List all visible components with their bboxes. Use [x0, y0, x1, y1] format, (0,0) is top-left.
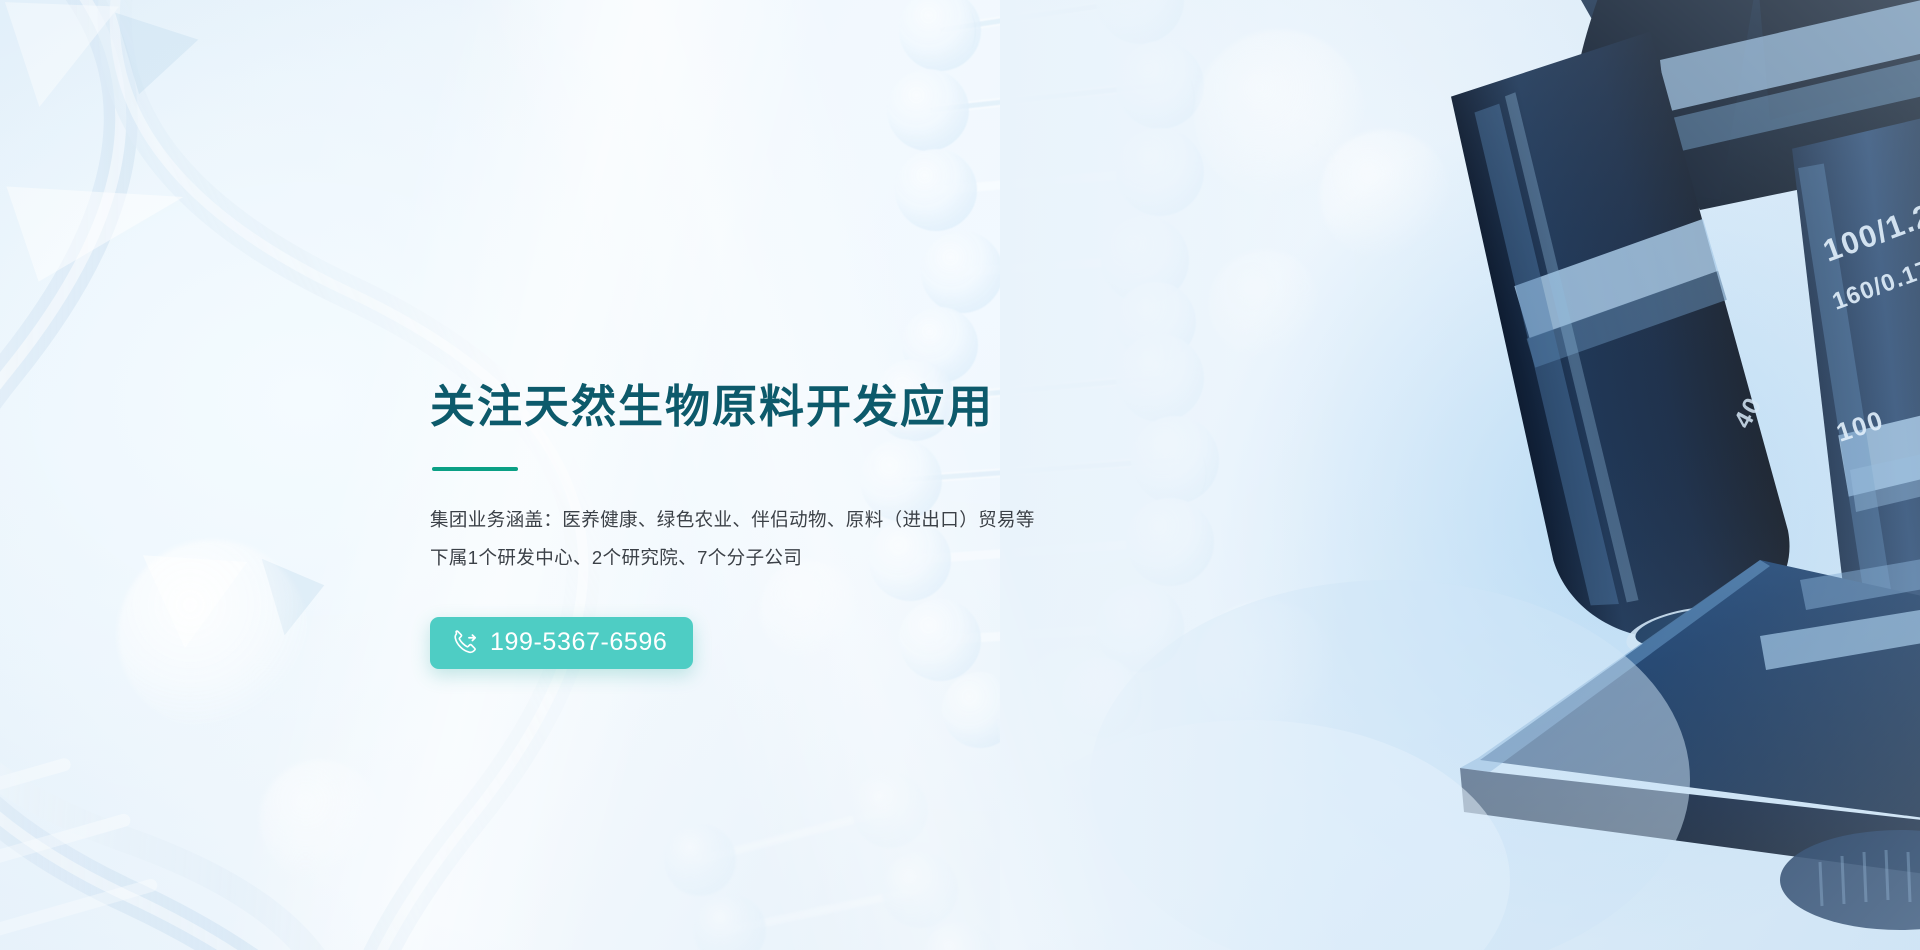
bokeh-light-4	[1195, 30, 1365, 200]
svg-text:40: 40	[1729, 392, 1769, 433]
bokeh-light-3	[1000, 650, 1150, 800]
bokeh-light-1	[118, 540, 308, 730]
phone-number-label: 199-5367-6596	[490, 630, 667, 655]
bokeh-light-6	[1210, 250, 1320, 360]
page-title: 关注天然生物原料开发应用	[430, 380, 1190, 433]
description-line-1: 集团业务涵盖：医养健康、绿色农业、伴侣动物、原料（进出口）贸易等	[430, 501, 1190, 539]
hero-description: 集团业务涵盖：医养健康、绿色农业、伴侣动物、原料（进出口）贸易等 下属1个研发中…	[430, 501, 1190, 577]
description-line-2: 下属1个研发中心、2个研究院、7个分子公司	[430, 539, 1190, 577]
hero-banner: 40 100/1.25 160/0.17 100	[0, 0, 1920, 950]
bokeh-light-2	[260, 760, 380, 880]
hero-content: 关注天然生物原料开发应用 集团业务涵盖：医养健康、绿色农业、伴侣动物、原料（进出…	[430, 380, 1190, 669]
phone-cta-button[interactable]: 199-5367-6596	[430, 617, 693, 669]
phone-outgoing-icon	[451, 629, 479, 657]
svg-text:160/0.17: 160/0.17	[1829, 255, 1920, 316]
svg-text:100/1.25: 100/1.25	[1818, 190, 1920, 268]
svg-text:100: 100	[1833, 404, 1888, 447]
bokeh-light-5	[1320, 130, 1450, 260]
bokeh-light-7	[1196, 600, 1336, 740]
title-divider	[432, 467, 518, 471]
